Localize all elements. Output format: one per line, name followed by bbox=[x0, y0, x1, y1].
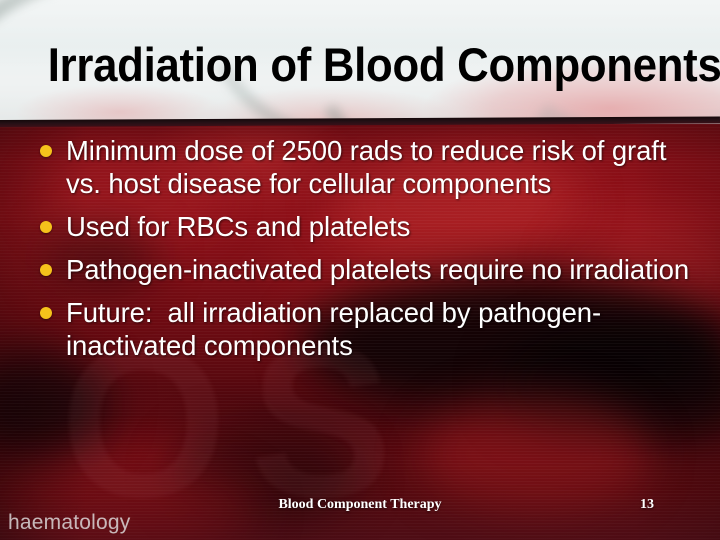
slide-number: 13 bbox=[618, 497, 676, 513]
bullet-dot-icon bbox=[40, 145, 52, 157]
bullet-list: Minimum dose of 2500 rads to reduce risk… bbox=[36, 134, 696, 372]
bullet-dot-icon bbox=[40, 264, 52, 276]
bullet-dot-icon bbox=[40, 221, 52, 233]
watermark-label: haematology bbox=[8, 511, 130, 535]
slide: OS Irradiation of Blood Components Minim… bbox=[0, 0, 720, 540]
page-title: Irradiation of Blood Components bbox=[48, 38, 680, 92]
bullet-dot-icon bbox=[40, 307, 52, 319]
list-item: Future: all irradiation replaced by path… bbox=[36, 296, 696, 362]
list-item: Minimum dose of 2500 rads to reduce risk… bbox=[36, 134, 696, 200]
list-item: Used for RBCs and platelets bbox=[36, 210, 696, 243]
list-item-label: Used for RBCs and platelets bbox=[66, 211, 410, 242]
list-item-label: Pathogen-inactivated platelets require n… bbox=[66, 254, 689, 285]
footer-title: Blood Component Therapy bbox=[160, 497, 560, 513]
list-item-label: Minimum dose of 2500 rads to reduce risk… bbox=[66, 135, 674, 199]
list-item: Pathogen-inactivated platelets require n… bbox=[36, 253, 696, 286]
list-item-label: Future: all irradiation replaced by path… bbox=[66, 297, 601, 361]
